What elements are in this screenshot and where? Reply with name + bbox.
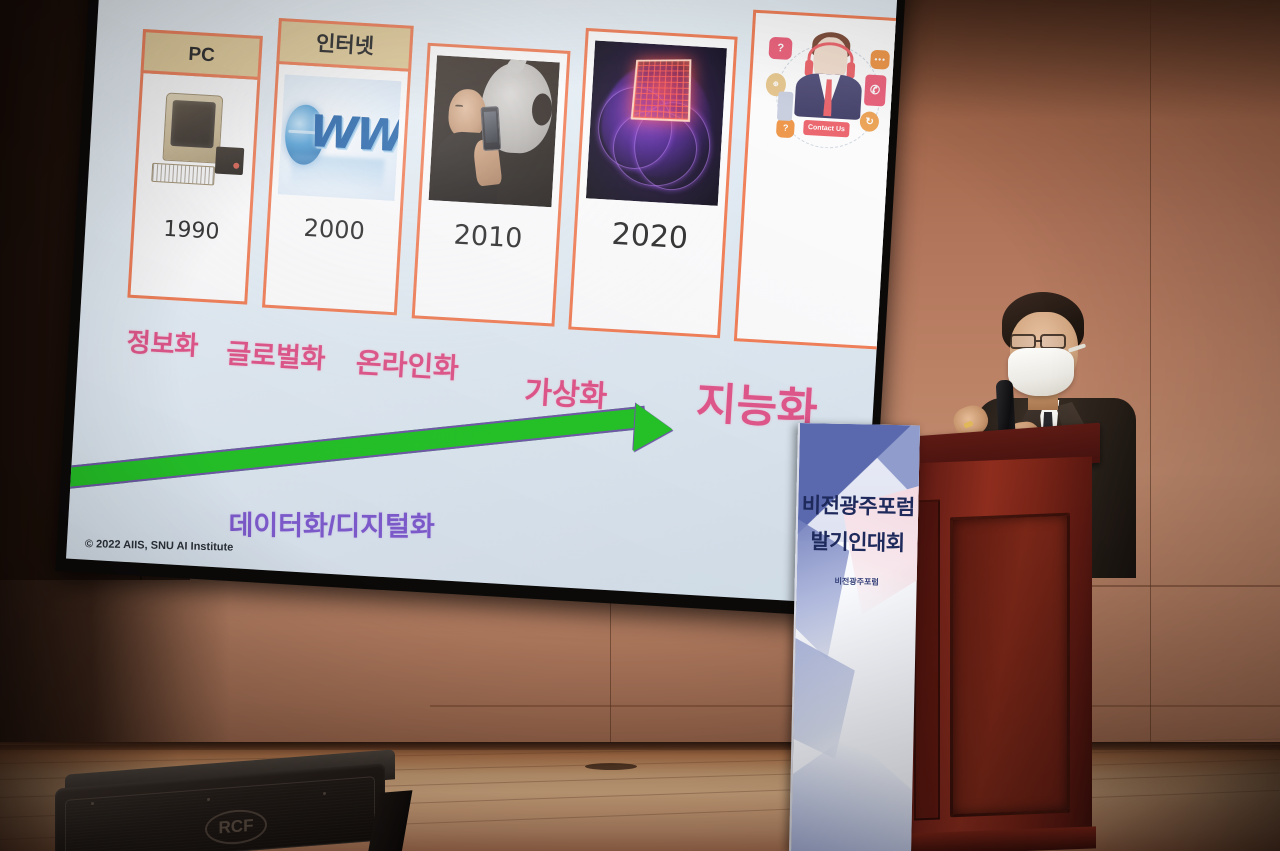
column-art-2: WWW <box>278 74 402 201</box>
presentation-slide: PC 1990 인터넷 <box>66 0 900 605</box>
lectern-trim-panel <box>914 500 940 821</box>
stage-label-1: 정보화 <box>126 322 200 363</box>
eyeglasses-icon <box>1010 334 1036 349</box>
screen-frame: PC 1990 인터넷 <box>55 0 908 618</box>
column-art-1 <box>142 81 251 209</box>
tablet-icon <box>777 91 794 120</box>
column-year-4: 2020 <box>576 215 724 258</box>
stage-label-2: 글로벌화 <box>225 331 326 376</box>
timeline-column-4: 2020 <box>568 28 737 338</box>
projection-screen: PC 1990 인터넷 <box>55 0 908 618</box>
column-art-5: ? ? ••• ✆ ⊕ ↻ Contact Us <box>754 23 900 199</box>
bubble-question-icon: ? <box>768 37 793 60</box>
bubble-question2-icon: ? <box>776 118 795 137</box>
face-mask <box>1008 348 1074 396</box>
floor-monitor: RCF <box>55 762 405 851</box>
timeline-columns: PC 1990 인터넷 <box>127 8 883 341</box>
column-year-3: 2010 <box>419 218 558 257</box>
timeline-column-5: ? ? ••• ✆ ⊕ ↻ Contact Us <box>734 10 900 351</box>
timeline-column-2: 인터넷 WWW 2000 <box>262 61 411 315</box>
floor-vent <box>585 763 637 770</box>
progress-arrow-bar <box>66 406 647 489</box>
lectern-recessed-panel <box>950 513 1070 818</box>
arrow-label: 데이터화/디지털화 <box>228 503 434 543</box>
column-header-2: 인터넷 <box>276 18 413 72</box>
banner-title-line2: 발기인대회 <box>797 525 918 558</box>
slide-copyright: © 2022 AIIS, SNU AI Institute <box>85 538 234 553</box>
eyeglasses-bridge <box>1036 340 1042 342</box>
lectern <box>900 430 1100 851</box>
bubble-retweet-icon: ↻ <box>859 111 879 132</box>
bubble-phone-icon: ✆ <box>864 75 886 106</box>
event-banner: 비전광주포럼 발기인대회 비전광주포럼 <box>789 423 920 851</box>
column-year-2: 2000 <box>269 212 399 247</box>
stage-label-4: 가상화 <box>523 367 608 416</box>
progress-arrow-head <box>633 403 674 453</box>
bubble-dots-icon: ••• <box>870 50 890 70</box>
banner-title-line1: 비전광주포럼 <box>798 489 919 522</box>
column-year-1: 1990 <box>134 215 249 247</box>
timeline-column-1: PC 1990 <box>127 70 260 305</box>
timeline-column-3: 2010 <box>412 43 571 327</box>
column-art-3 <box>429 55 560 207</box>
contact-us-button: Contact Us <box>803 120 851 138</box>
eyeglasses-icon <box>1040 334 1066 349</box>
column-header-1: PC <box>141 29 263 80</box>
column-art-4 <box>586 40 727 205</box>
photo-scene: PC 1990 인터넷 <box>0 0 1280 851</box>
stage-label-3: 온라인화 <box>355 341 460 387</box>
